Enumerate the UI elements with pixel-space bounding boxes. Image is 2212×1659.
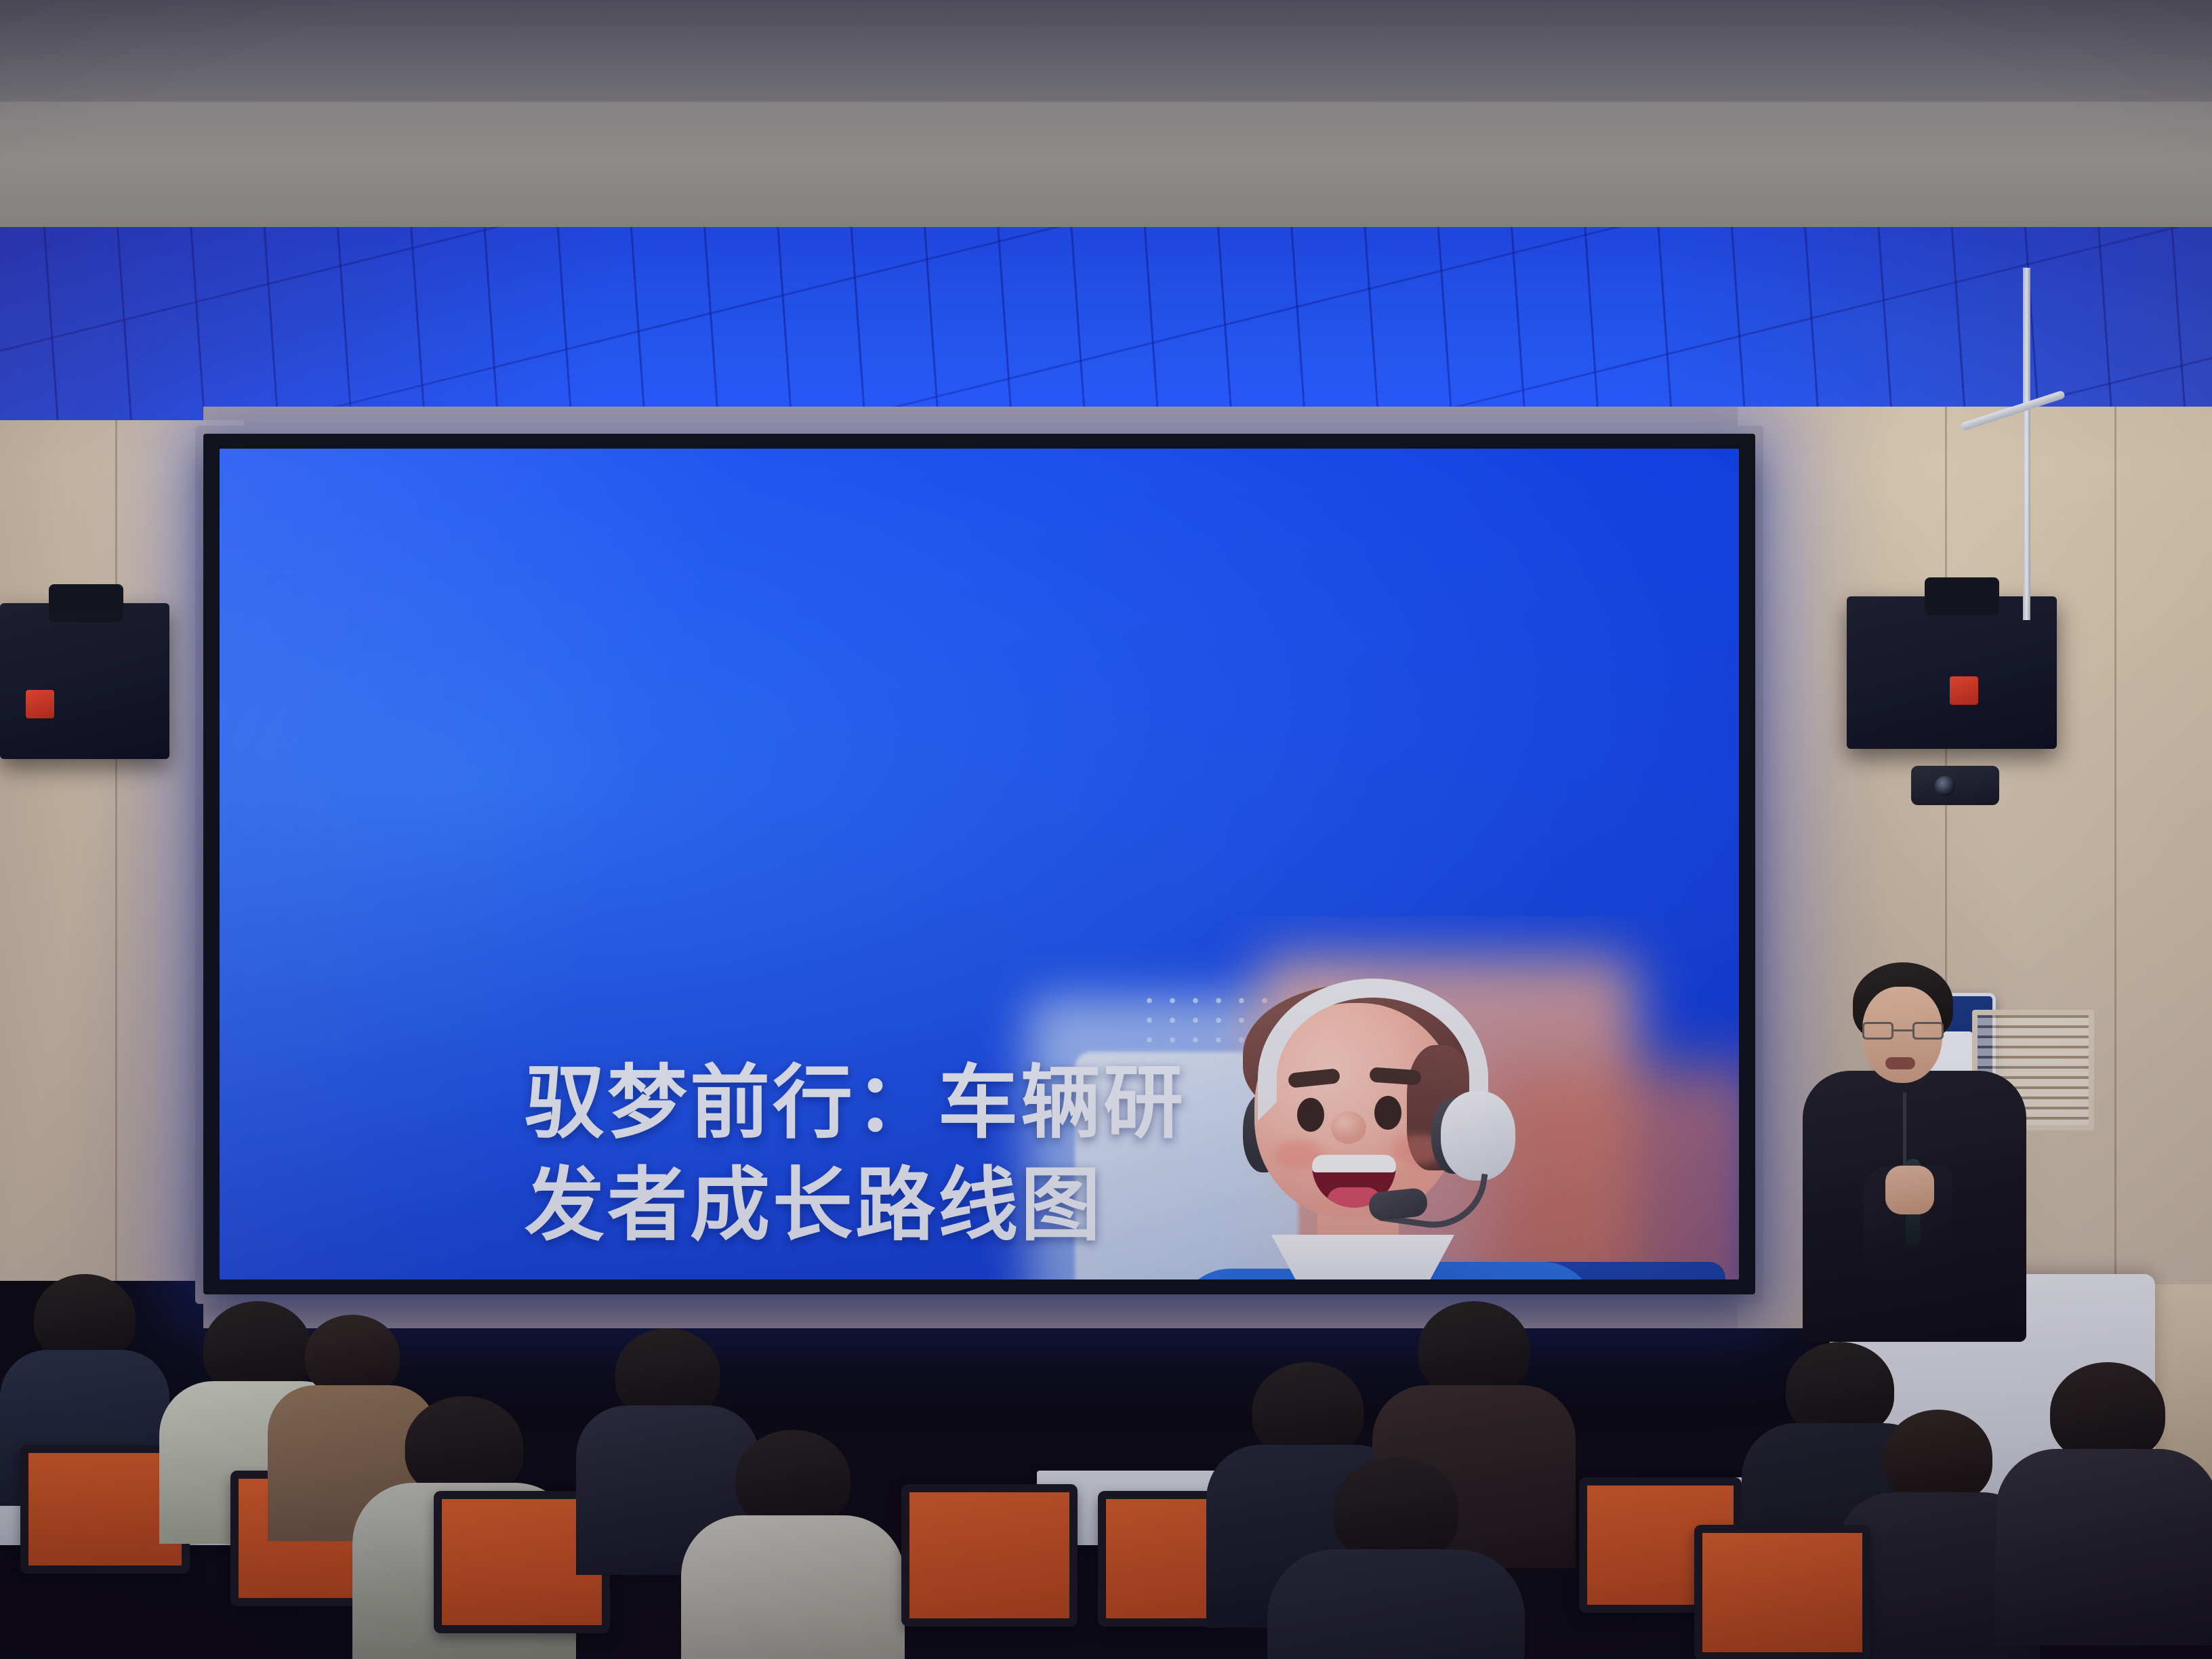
slide-title-line-1: 驭梦前行：车辆研 bbox=[525, 1052, 1392, 1154]
upper-wall-shadow bbox=[0, 0, 2212, 102]
audience-head bbox=[1334, 1457, 1459, 1564]
speaker-mount-bracket-left bbox=[49, 584, 123, 622]
glasses-lens-left bbox=[1862, 1022, 1893, 1040]
glasses-bridge bbox=[1893, 1029, 1912, 1031]
headphone-earcup-right bbox=[1441, 1091, 1515, 1181]
slide-canvas[interactable]: 驭梦前行：车辆研 发者成长路线图 汇报人:刘昌俊 时间:2025/11/12 ▶… bbox=[220, 449, 1739, 1279]
camera-mount-pole bbox=[2023, 268, 2030, 620]
audience-head bbox=[1252, 1362, 1364, 1458]
audience-head bbox=[1884, 1410, 1992, 1504]
slide-title-line-2: 发者成长路线图 bbox=[525, 1154, 1392, 1256]
audience-head bbox=[34, 1274, 136, 1362]
audience-member bbox=[684, 1430, 901, 1659]
glasses-lens-right bbox=[1912, 1022, 1944, 1040]
camera-lens-icon bbox=[1935, 776, 1955, 796]
audience-chair bbox=[1694, 1525, 1870, 1659]
classroom-scene: 驭梦前行：车辆研 发者成长路线图 汇报人:刘昌俊 时间:2025/11/12 ▶… bbox=[0, 0, 2212, 1659]
audience-member bbox=[2006, 1362, 2209, 1620]
audience-torso bbox=[1267, 1549, 1525, 1659]
speaker-brand-logo bbox=[26, 690, 54, 718]
speaker-brand-logo bbox=[1950, 676, 1978, 705]
audience-chair bbox=[901, 1484, 1078, 1626]
presenter-hand bbox=[1885, 1166, 1934, 1214]
speaker-mount-bracket-right bbox=[1925, 577, 1999, 615]
ceiling-camera bbox=[1911, 766, 1999, 805]
presenter-glasses bbox=[1861, 1022, 1945, 1040]
background-blur-shape bbox=[1488, 1065, 1739, 1279]
wall-seam bbox=[2114, 407, 2116, 1328]
audience-torso bbox=[1996, 1449, 2212, 1645]
wall-seam bbox=[115, 420, 117, 1281]
audience-head bbox=[305, 1315, 400, 1396]
audience-torso bbox=[681, 1515, 905, 1659]
presentation-screen[interactable]: 驭梦前行：车辆研 发者成长路线图 汇报人:刘昌俊 时间:2025/11/12 ▶… bbox=[203, 434, 1755, 1294]
audience-member bbox=[1274, 1457, 1518, 1659]
audience-head bbox=[735, 1430, 851, 1528]
wall-speaker-left bbox=[0, 603, 169, 759]
audience-head bbox=[2050, 1362, 2165, 1462]
audience-head bbox=[1418, 1301, 1530, 1397]
presenter-mouth bbox=[1885, 1057, 1915, 1069]
audience-area bbox=[0, 1267, 2212, 1659]
presenter-jacket-zipper bbox=[1903, 1092, 1906, 1167]
page-title: 驭梦前行：车辆研 发者成长路线图 bbox=[525, 1052, 1392, 1256]
